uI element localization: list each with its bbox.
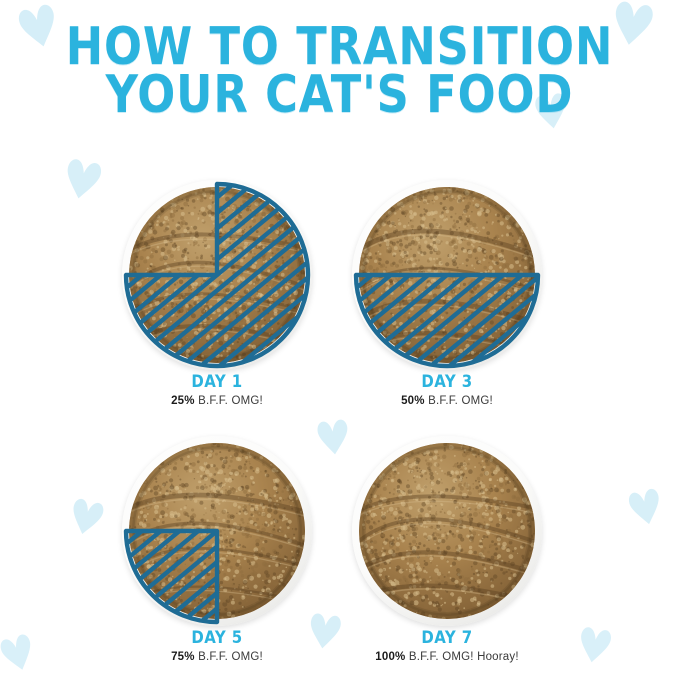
percent-note-rest: B.F.F. OMG! xyxy=(195,651,263,663)
day-label: DAY 7 xyxy=(302,629,592,648)
percent-value: 75% xyxy=(171,651,195,663)
cat-food-pate xyxy=(129,443,305,619)
caption-day-3: DAY 3 50% B.F.F. OMG! xyxy=(282,373,612,407)
bowl-day-3 xyxy=(352,180,542,370)
percent-note: 50% B.F.F. OMG! xyxy=(282,395,612,407)
percent-value: 50% xyxy=(401,395,425,407)
cat-food-pate xyxy=(359,187,535,363)
cat-food-pate xyxy=(359,443,535,619)
percent-value: 25% xyxy=(171,395,195,407)
day-label: DAY 3 xyxy=(302,373,592,392)
step-card-day-7: DAY 7 100% B.F.F. OMG! Hooray! xyxy=(282,426,612,673)
bowl-dish xyxy=(352,436,542,626)
bowl-day-7 xyxy=(352,436,542,626)
step-card-day-3: DAY 3 50% B.F.F. OMG! xyxy=(282,170,612,420)
percent-note-rest: B.F.F. OMG! xyxy=(195,395,263,407)
title-line-2: YOUR CAT'S FOOD xyxy=(48,72,632,120)
bowl-dish xyxy=(352,180,542,370)
cat-food-pate xyxy=(129,187,305,363)
percent-value: 100% xyxy=(375,651,405,663)
transition-steps-grid: DAY 1 25% B.F.F. OMG! DAY 3 50% B.F.F. O… xyxy=(0,170,679,670)
infographic-canvas: HOW TO TRANSITION YOUR CAT'S FOOD DAY 1 … xyxy=(0,0,679,673)
percent-note: 100% B.F.F. OMG! Hooray! xyxy=(282,651,612,663)
percent-note-rest: B.F.F. OMG! Hooray! xyxy=(405,651,518,663)
page-title: HOW TO TRANSITION YOUR CAT'S FOOD xyxy=(0,24,679,120)
caption-day-7: DAY 7 100% B.F.F. OMG! Hooray! xyxy=(282,629,612,663)
percent-note-rest: B.F.F. OMG! xyxy=(425,395,493,407)
